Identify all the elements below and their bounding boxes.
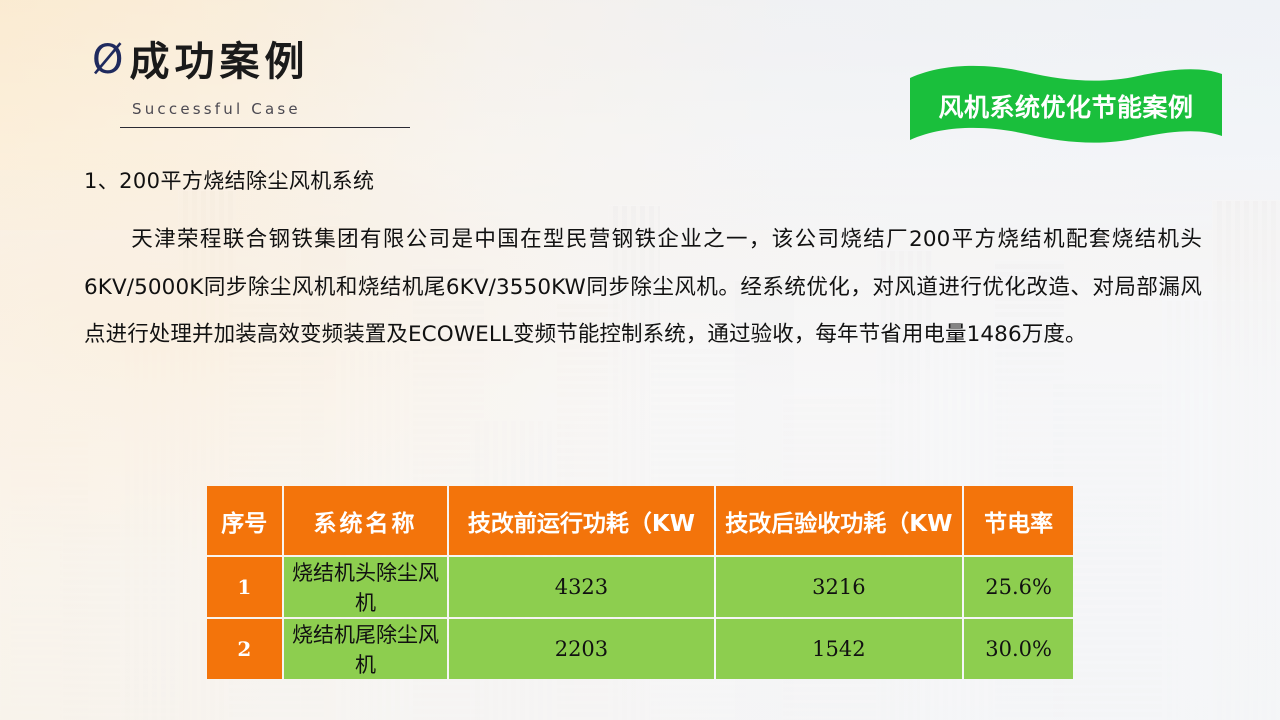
column-header-index: 序号 [207, 486, 282, 555]
section-ribbon-banner: 风机系统优化节能案例 [906, 60, 1226, 153]
slide-root: Ø 成功案例 Successful Case 风机系统优化节能案例 1、200平… [0, 0, 1280, 720]
cell-power-before: 4323 [449, 557, 713, 617]
cell-power-after: 1542 [716, 619, 963, 679]
column-header-system-name: 系统名称 [284, 486, 448, 555]
body-copy: 1、200平方烧结除尘风机系统 天津荣程联合钢铁集团有限公司是中国在型民营钢铁企… [84, 168, 1202, 358]
column-header-power-after: 技改后验收功耗（KW [716, 486, 963, 555]
table-row: 1 烧结机头除尘风机 4323 3216 25.6% [207, 557, 1073, 617]
cell-power-after: 3216 [716, 557, 963, 617]
page-subtitle: Successful Case [92, 100, 422, 118]
slide-title-row: Ø 成功案例 [92, 36, 422, 88]
slide-title-block: Ø 成功案例 Successful Case [92, 36, 422, 128]
section-paragraph: 天津荣程联合钢铁集团有限公司是中国在型民营钢铁企业之一，该公司烧结厂200平方烧… [84, 216, 1202, 358]
column-header-power-before: 技改前运行功耗（KW [449, 486, 713, 555]
energy-saving-table: 序号 系统名称 技改前运行功耗（KW 技改后验收功耗（KW 节电率 1 烧结机头… [205, 484, 1075, 681]
table-row: 2 烧结机尾除尘风机 2203 1542 30.0% [207, 619, 1073, 679]
slashed-circle-icon: Ø [92, 40, 123, 80]
table-body: 1 烧结机头除尘风机 4323 3216 25.6% 2 烧结机尾除尘风机 22… [207, 557, 1073, 679]
table-header: 序号 系统名称 技改前运行功耗（KW 技改后验收功耗（KW 节电率 [207, 486, 1073, 555]
cell-index: 1 [207, 557, 282, 617]
cell-index: 2 [207, 619, 282, 679]
cell-power-before: 2203 [449, 619, 713, 679]
title-underline [120, 127, 410, 128]
page-title: 成功案例 [129, 42, 309, 82]
cell-saving-rate: 30.0% [964, 619, 1073, 679]
column-header-saving-rate: 节电率 [964, 486, 1073, 555]
section-heading: 1、200平方烧结除尘风机系统 [84, 168, 1202, 194]
cell-system-name: 烧结机头除尘风机 [284, 557, 448, 617]
ribbon-label: 风机系统优化节能案例 [906, 88, 1226, 124]
cell-saving-rate: 25.6% [964, 557, 1073, 617]
cell-system-name: 烧结机尾除尘风机 [284, 619, 448, 679]
table-header-row: 序号 系统名称 技改前运行功耗（KW 技改后验收功耗（KW 节电率 [207, 486, 1073, 555]
